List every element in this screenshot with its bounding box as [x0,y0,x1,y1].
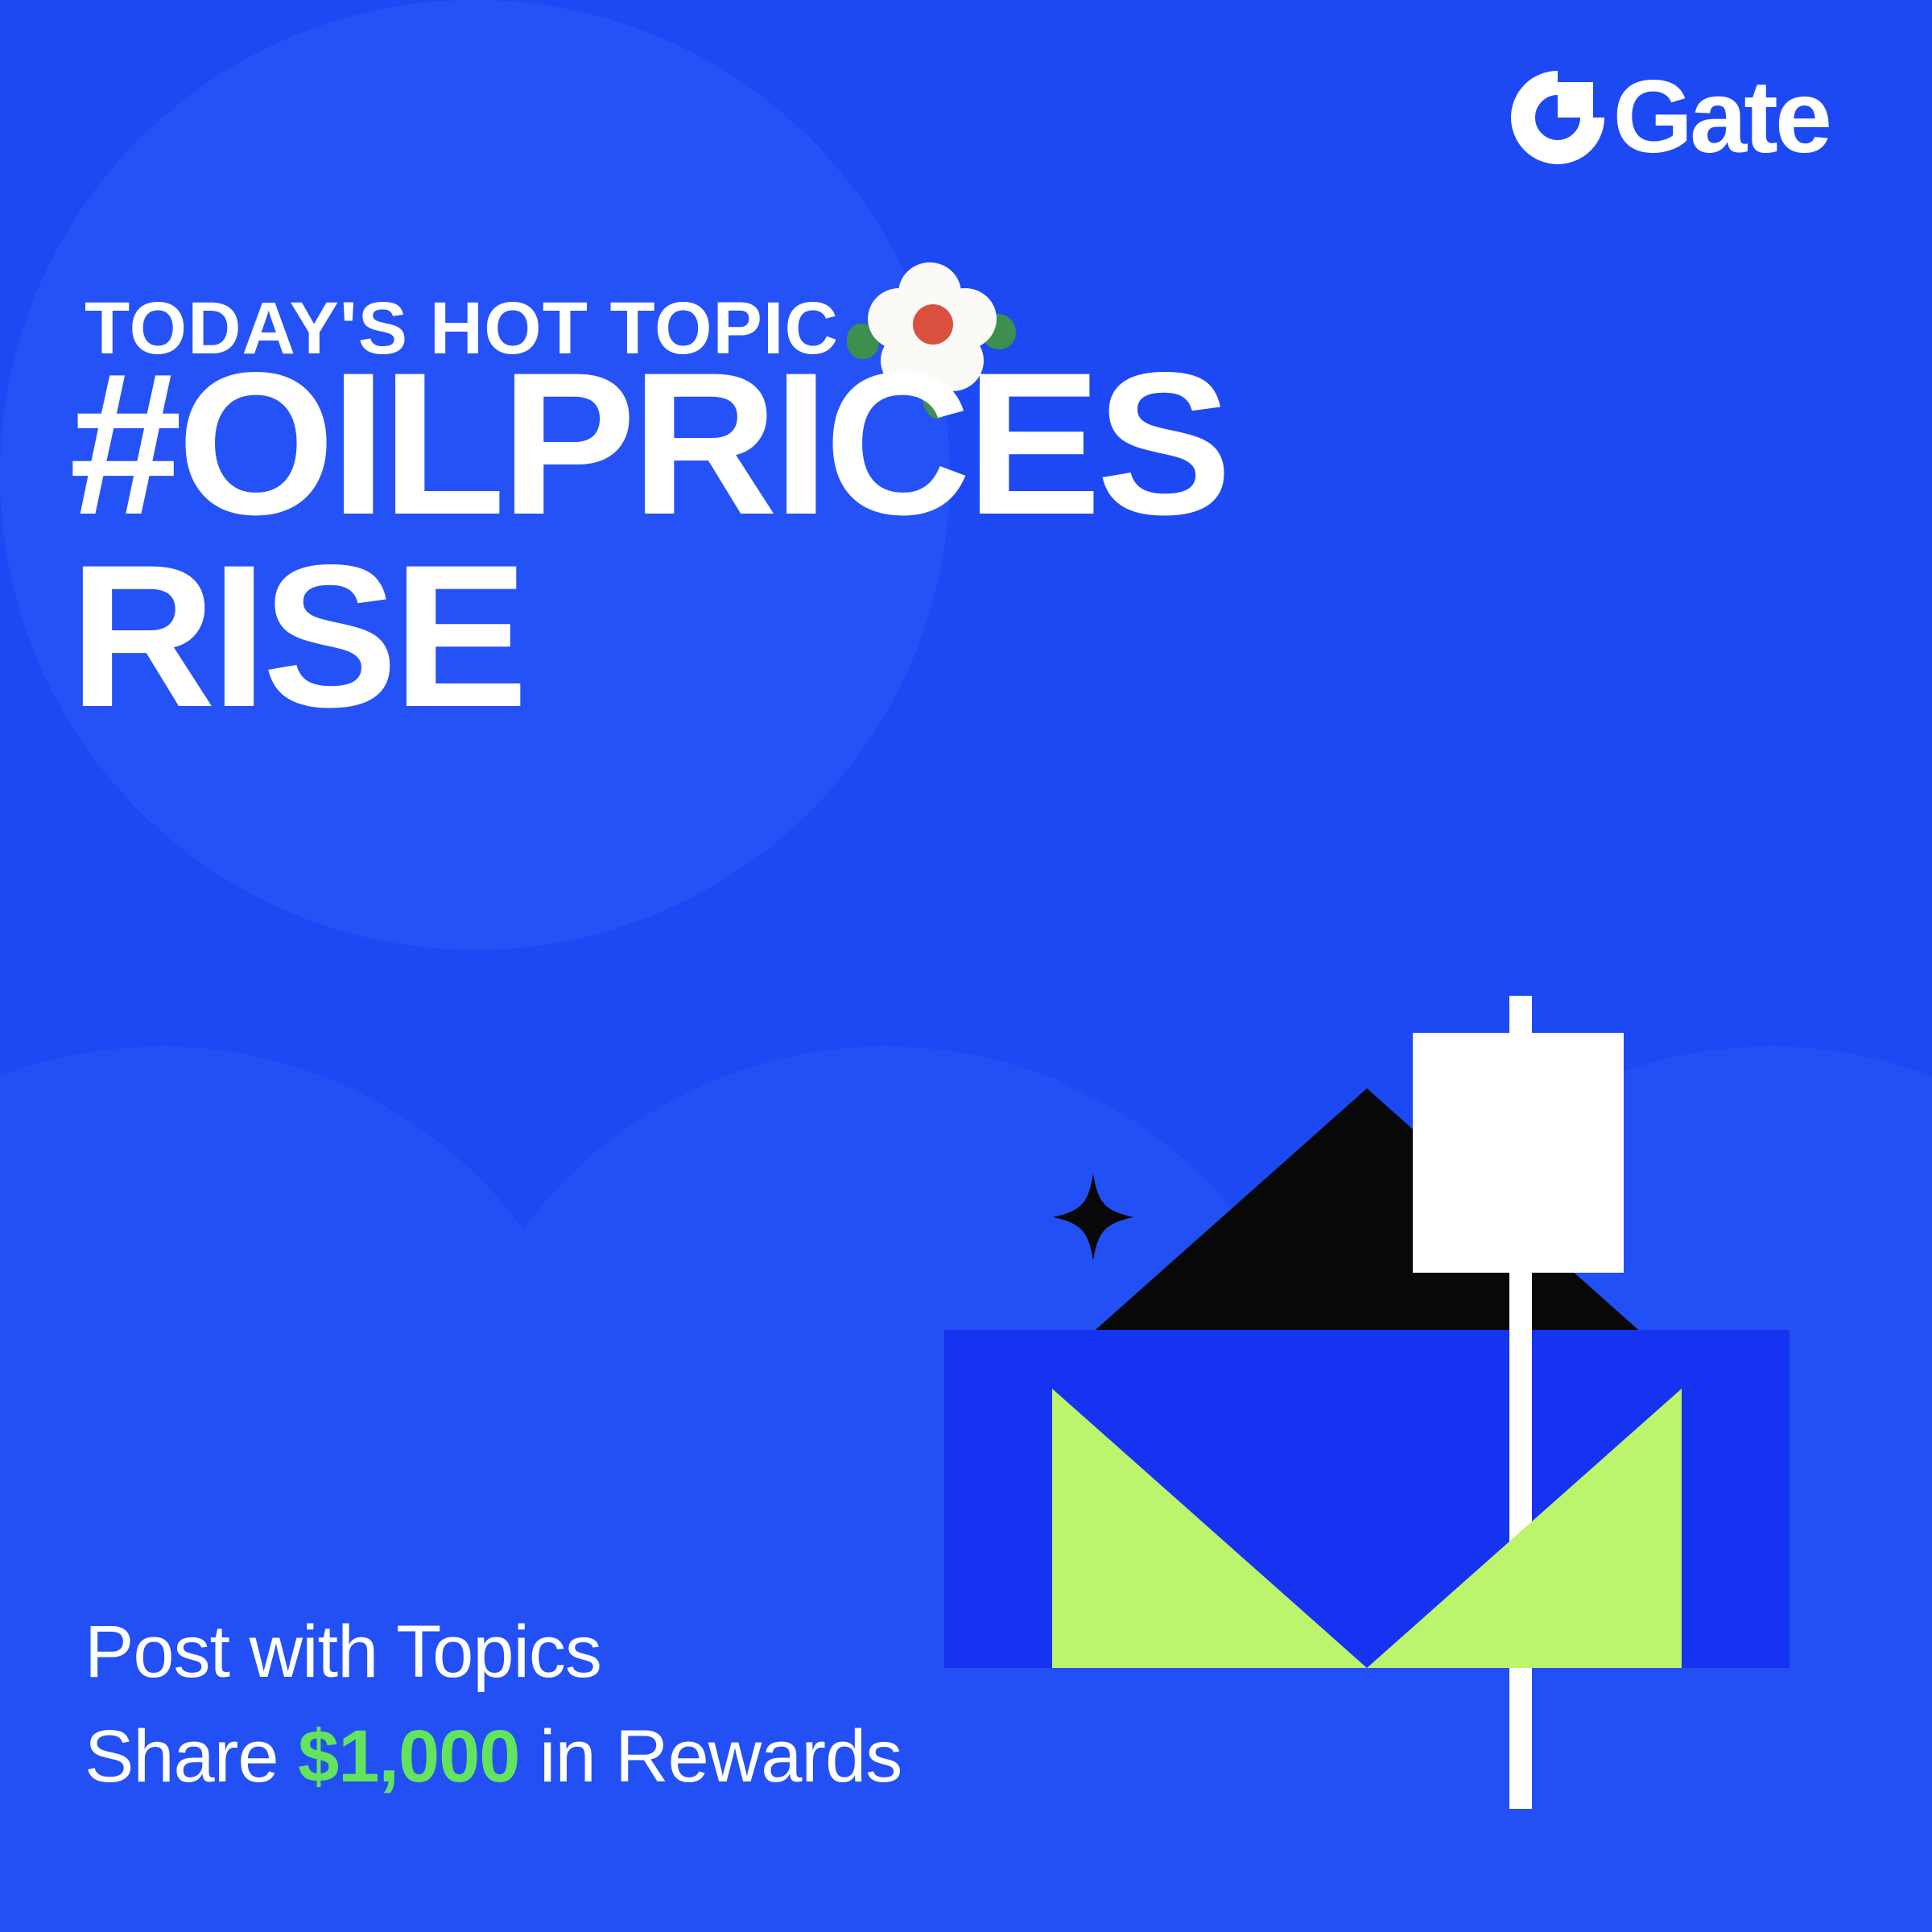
gate-circle-mark-icon [1511,71,1604,164]
caption-suffix: in Rewards [519,1715,902,1798]
open-envelope-illustration [944,990,1791,1668]
logo-square [1558,82,1593,118]
gate-logo[interactable]: Gate [1511,66,1829,169]
gate-wordmark: Gate [1612,66,1829,169]
promo-poster: Gate TODAY'S HOT TOPIC #OILPRICES RISE [0,0,1932,1932]
caption-prefix: Share [85,1715,298,1798]
reward-amount: $1,000 [298,1715,519,1798]
caption-line-2: Share $1,000 in Rewards [85,1704,902,1810]
headline-line-2: RISE [69,540,1438,733]
envelope-green-flap [944,990,1790,1668]
page-title: #OILPRICES RISE [69,348,1438,733]
caption-line-1: Post with Topics [85,1600,902,1705]
footer-caption: Post with Topics Share $1,000 in Rewards [85,1600,902,1810]
